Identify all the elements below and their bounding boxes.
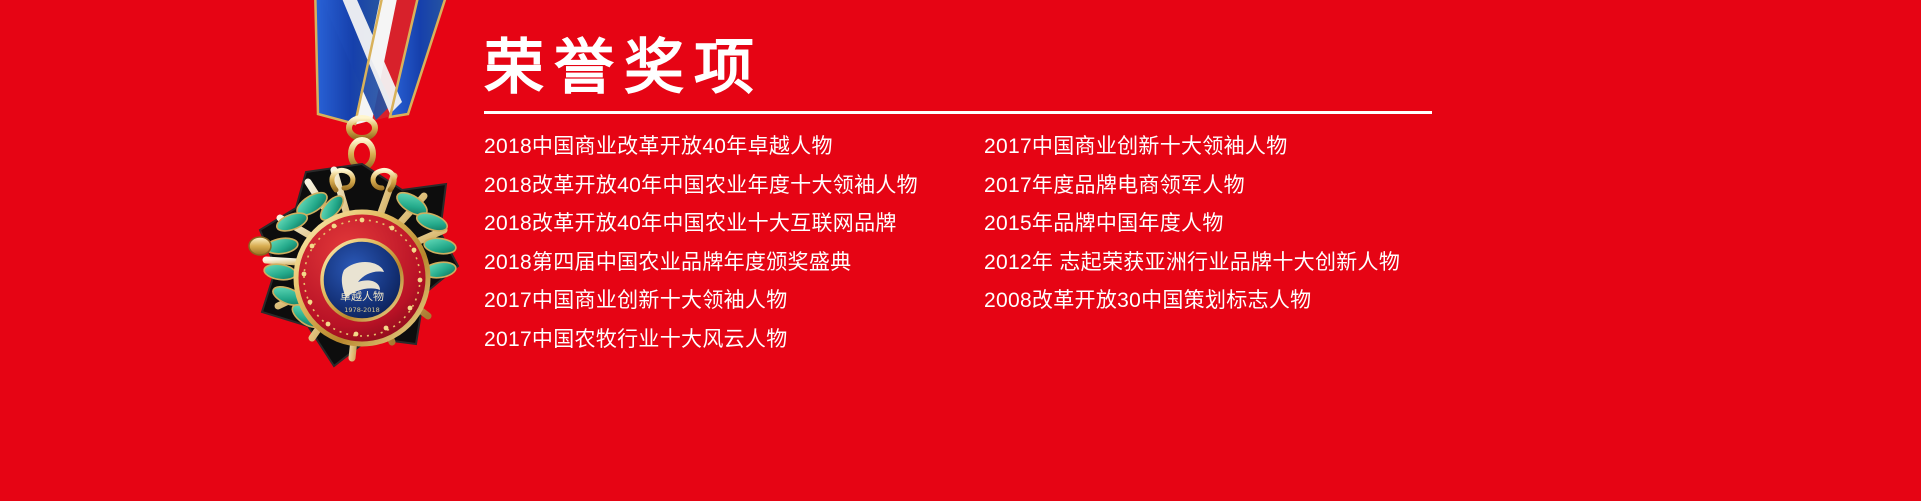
award-item: 2015年品牌中国年度人物 xyxy=(984,205,1580,244)
medal-red-ring xyxy=(296,212,428,344)
award-item: 2017中国商业创新十大领袖人物 xyxy=(984,128,1580,167)
medal-star-body xyxy=(260,164,458,366)
medal-laurel-right xyxy=(393,188,457,279)
medal-scroll xyxy=(332,170,394,190)
honor-medal-icon: 卓越人物 1978-2018 xyxy=(140,0,460,414)
award-item: 2018第四届中国农业品牌年度颁奖盛典 xyxy=(484,244,980,283)
medal-blue-disc xyxy=(322,240,402,320)
honor-awards-banner: 卓越人物 1978-2018 荣誉奖项 2018中国商业改革开放40年卓越人物 … xyxy=(0,0,1921,501)
medal-center-years: 1978-2018 xyxy=(344,306,379,314)
medal-star-dots xyxy=(302,218,423,337)
medal-ring xyxy=(349,118,375,168)
medal-rays xyxy=(266,166,446,358)
award-item: 2008改革开放30中国策划标志人物 xyxy=(984,282,1580,321)
award-item: 2017年度品牌电商领军人物 xyxy=(984,167,1580,206)
medal-ribbon xyxy=(315,0,450,125)
page-title: 荣誉奖项 xyxy=(484,34,1900,101)
awards-content: 荣誉奖项 2018中国商业改革开放40年卓越人物 2018改革开放40年中国农业… xyxy=(480,34,1900,359)
award-item: 2017中国农牧行业十大风云人物 xyxy=(484,321,980,360)
award-item: 2018中国商业改革开放40年卓越人物 xyxy=(484,128,980,167)
medal-center-text: 卓越人物 xyxy=(340,289,384,303)
awards-columns: 2018中国商业改革开放40年卓越人物 2018改革开放40年中国农业年度十大领… xyxy=(480,128,1900,359)
medal-laurel-left xyxy=(263,188,347,331)
awards-right-column: 2017中国商业创新十大领袖人物 2017年度品牌电商领军人物 2015年品牌中… xyxy=(980,128,1580,321)
awards-left-column: 2018中国商业改革开放40年卓越人物 2018改革开放40年中国农业年度十大领… xyxy=(480,128,980,359)
award-item: 2018改革开放40年中国农业年度十大领袖人物 xyxy=(484,167,980,206)
medal-pin-nub xyxy=(249,237,271,255)
award-item: 2017中国商业创新十大领袖人物 xyxy=(484,282,980,321)
award-item: 2018改革开放40年中国农业十大互联网品牌 xyxy=(484,205,980,244)
medal-emblem-swoosh xyxy=(342,262,384,298)
award-item: 2012年 志起荣获亚洲行业品牌十大创新人物 xyxy=(984,244,1580,283)
title-divider xyxy=(484,111,1432,114)
